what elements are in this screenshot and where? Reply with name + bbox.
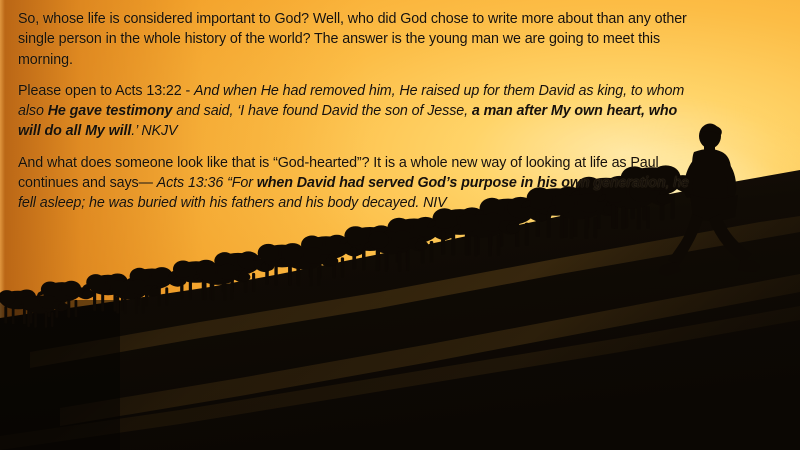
text-run-normal: So, whose life is considered important t… (18, 11, 687, 68)
text-run-italic: and said, ‘I have found David the son of… (172, 103, 472, 119)
text-run-italic: .’ NKJV (131, 123, 177, 139)
text-run-bold-italic: He gave testimony (48, 103, 173, 119)
paragraph-1: So, whose life is considered important t… (18, 9, 708, 70)
paragraph-2: Please open to Acts 13:22 - And when He … (18, 81, 690, 142)
paragraph-3: And what does someone look like that is … (18, 153, 690, 214)
text-run-italic: Acts 13:36 “For (157, 175, 257, 191)
slide-canvas: So, whose life is considered important t… (0, 0, 800, 450)
text-run-bold-italic: when David had served God’s purpose in h… (257, 175, 666, 191)
text-run-normal: Please open to Acts 13:22 - (18, 83, 194, 99)
slide-text-body: So, whose life is considered important t… (18, 9, 708, 214)
